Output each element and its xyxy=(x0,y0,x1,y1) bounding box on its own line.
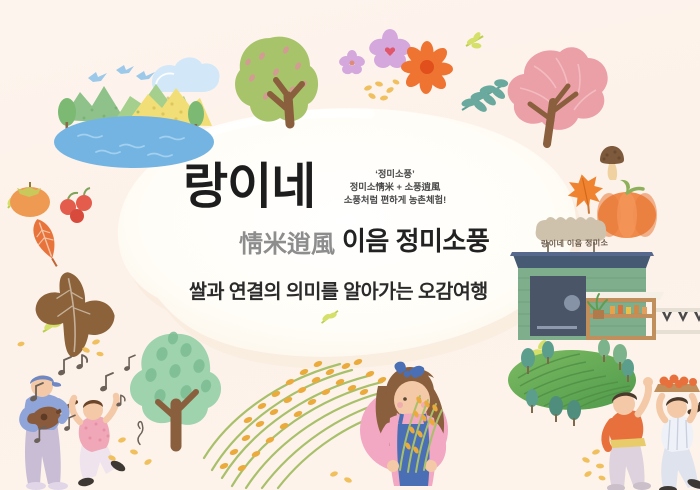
lake xyxy=(54,116,214,168)
shop-signboard xyxy=(536,217,607,241)
orange-flower xyxy=(401,41,453,94)
poster-canvas: 랑이네 ‘정미소풍’ 정미소情米 + 소풍逍風 소풍처럼 편하게 농촌체험! 情… xyxy=(0,0,700,490)
illustration-layer xyxy=(0,0,700,490)
